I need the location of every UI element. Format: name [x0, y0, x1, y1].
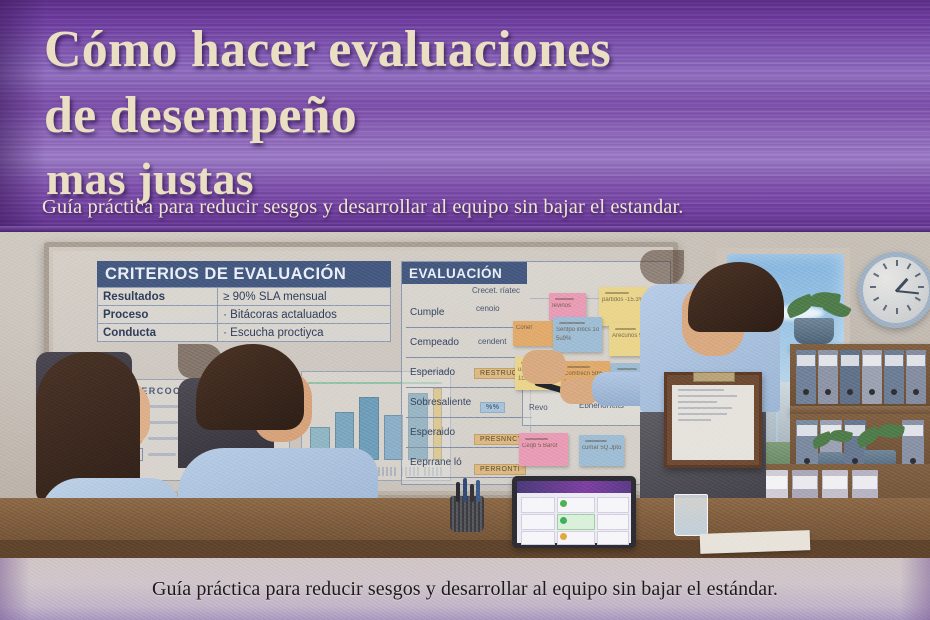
sticky-note-text: Ievinos — [552, 302, 584, 311]
banner-bottom-edge — [0, 226, 930, 232]
presenter-hand — [522, 350, 566, 384]
table-row: Conducta · Escucha proctiyca — [98, 324, 391, 342]
clipboard-sheet — [672, 385, 754, 460]
criteria-panel-header: CRITERIOS DE EVALUACIÓN — [97, 261, 391, 287]
evaluation-panel-header: EVALUACIÓN — [402, 262, 527, 284]
criteria-detail: ≥ 90% SLA mensual — [218, 288, 391, 306]
caption-left-vignette — [0, 558, 30, 620]
wall-clock — [858, 252, 930, 328]
table-row: Proceso · Bitácoras actaluados — [98, 306, 391, 324]
criteria-name: Proceso — [98, 306, 218, 324]
sticky-note: Ievinos — [549, 293, 586, 320]
title-line-2: de desempeño — [44, 90, 611, 142]
clipboard-clip — [693, 372, 735, 382]
status-dot — [560, 533, 567, 540]
title-line-1: Cómo hacer evaluaciones — [44, 24, 611, 76]
presenter-hair — [688, 262, 784, 332]
criteria-detail: · Bitácoras actaluados — [218, 306, 391, 324]
pen-cup[interactable] — [450, 496, 484, 532]
water-glass — [674, 494, 708, 536]
eval-chip: %% — [480, 402, 505, 413]
eval-subbox-label-1: Revo — [529, 403, 548, 412]
binder — [884, 350, 904, 404]
eval-value: cenoio — [476, 304, 500, 313]
status-dot — [560, 517, 567, 524]
binder — [862, 350, 882, 404]
poster-root: Cómo hacer evaluaciones de desempeño mas… — [0, 0, 930, 620]
desk-tablet[interactable] — [512, 476, 636, 548]
sticky-note: Sentpo inbcs 1o 5u9% — [553, 317, 602, 352]
header-banner: Cómo hacer evaluaciones de desempeño mas… — [0, 0, 930, 232]
sticky-note-text: cumar 5Q.Jpto — [582, 444, 622, 453]
title-block: Cómo hacer evaluaciones de desempeño mas… — [44, 14, 611, 202]
table-row: Sobresaliente — [406, 388, 532, 418]
status-dot — [560, 500, 567, 507]
table-row: Resultados ≥ 90% SLA mensual — [98, 288, 391, 306]
sticky-note-text: Conet — [516, 324, 552, 333]
criteria-detail: · Escucha proctiyca — [218, 324, 391, 342]
sticky-note: Ceqb 5 Barot — [519, 433, 568, 466]
eval-value: cendent — [478, 337, 506, 346]
illustration-scene: CRITERIOS DE EVALUACIÓN Resultados ≥ 90%… — [0, 232, 930, 560]
sticky-note: cumar 5Q.Jpto — [579, 435, 624, 466]
sticky-note: Conet — [513, 321, 554, 346]
footer-caption-text: Guía práctica para reducir sesgos y desa… — [152, 578, 778, 601]
presenter-beard — [640, 250, 684, 284]
banner-left-vignette — [0, 0, 46, 232]
evaluation-column-header: Crecet. ríatec — [472, 286, 520, 295]
clipboard — [664, 372, 762, 468]
sticky-note-text: Ceqb 5 Barot — [522, 442, 566, 451]
footer-caption-bar: Guía práctica para reducir sesgos y desa… — [0, 558, 930, 620]
binder — [906, 350, 926, 404]
papers-stack — [700, 530, 811, 554]
eval-label: Sobresaliente — [406, 388, 532, 418]
criteria-name: Conducta — [98, 324, 218, 342]
sticky-note-text: Sentpo inbcs 1o 5u9% — [556, 326, 600, 344]
banner-subtitle: Guía práctica para reducir sesgos y desa… — [42, 196, 684, 219]
caption-right-vignette — [900, 558, 930, 620]
tablet-header-bar — [517, 481, 631, 493]
tablet-screen[interactable] — [517, 481, 631, 543]
criteria-name: Resultados — [98, 288, 218, 306]
criteria-table: Resultados ≥ 90% SLA mensual Proceso · B… — [97, 287, 391, 342]
clock-minute-hand — [896, 290, 919, 294]
